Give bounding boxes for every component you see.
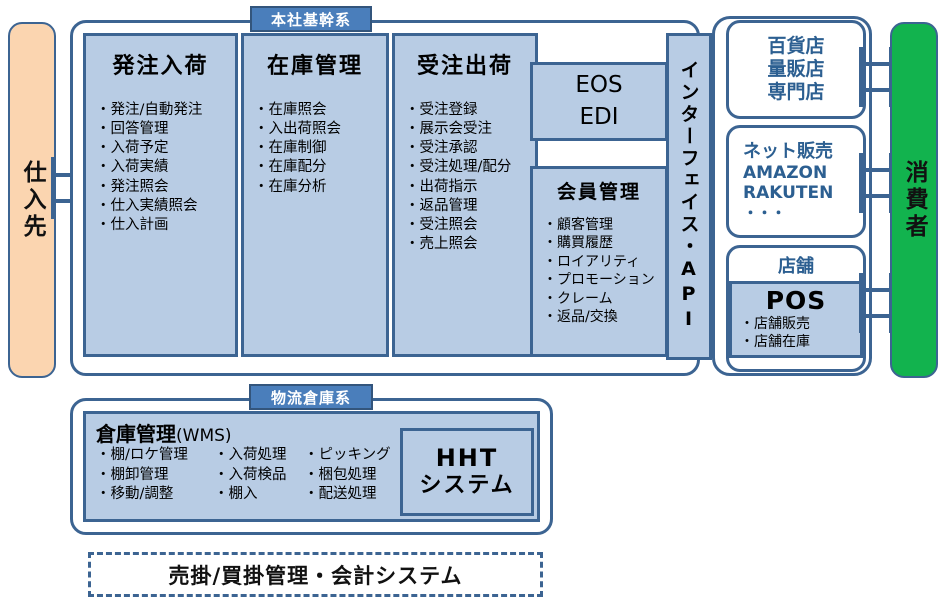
list-item: ・店舗販売 <box>740 315 852 333</box>
list-item: ・棚入 <box>214 485 287 505</box>
list-item: ・在庫照会 <box>254 101 376 120</box>
pos-box[interactable]: POS ・店舗販売 ・店舗在庫 <box>729 281 863 358</box>
module-kaiin-kanri[interactable]: 会員管理 ・顧客管理 ・購買履歴 ・ロイアリティ ・プロモーション ・クレーム … <box>530 166 668 357</box>
edi-label: EDI <box>579 102 618 133</box>
list-item: ・展示会受注 <box>405 120 525 139</box>
list-item: ・ピッキング <box>304 446 391 466</box>
list-item: ・梱包処理 <box>304 466 391 486</box>
list-item: ・返品/交換 <box>543 308 655 326</box>
group-tab-hq-label: 本社基幹系 <box>271 9 351 30</box>
list-item: ・棚/ロケ管理 <box>96 446 188 466</box>
module-juchu-shukka-title: 受注出荷 <box>405 48 525 80</box>
list-item: ・発注/自動発注 <box>96 101 225 120</box>
actor-supplier-label: 仕入先 <box>20 160 44 241</box>
list-item: ・仕入実績照会 <box>96 197 225 216</box>
channel-store-caption: 店舗 <box>778 252 814 278</box>
channel-store-pos[interactable]: 店舗 POS ・店舗販売 ・店舗在庫 <box>726 245 866 372</box>
wms-column-2: ・入荷処理 ・入荷検品 ・棚入 <box>214 446 287 505</box>
diagram-canvas: 仕入先 本社基幹系 発注入荷 ・発注/自動発注 ・回答管理 ・入荷予定 ・入荷実… <box>0 0 950 608</box>
hht-subtitle: システム <box>419 473 514 499</box>
wms-column-1: ・棚/ロケ管理 ・棚卸管理 ・移動/調整 <box>96 446 188 505</box>
hht-title: HHT <box>436 444 499 473</box>
wms-title-row: 倉庫管理(WMS) <box>96 418 232 447</box>
list-item: ・移動/調整 <box>96 485 188 505</box>
actor-consumer-label: 消費者 <box>902 160 926 241</box>
channel-net-line: ネット販売 <box>743 141 833 163</box>
eos-label: EOS <box>575 70 622 101</box>
list-item: ・店舗在庫 <box>740 333 852 351</box>
actor-consumer: 消費者 <box>890 22 938 378</box>
wms-title: 倉庫管理 <box>96 422 176 446</box>
module-zaiko-kanri-title: 在庫管理 <box>254 48 376 80</box>
channel-net-line: RAKUTEN <box>743 183 833 204</box>
list-item: ・出荷指示 <box>405 178 525 197</box>
list-item: ・返品管理 <box>405 197 525 216</box>
module-wms[interactable]: 倉庫管理(WMS) ・棚/ロケ管理 ・棚卸管理 ・移動/調整 ・入荷処理 ・入荷… <box>83 411 540 522</box>
list-item: ・受注承認 <box>405 139 525 158</box>
list-item: ・受注処理/配分 <box>405 158 525 177</box>
list-item: ・棚卸管理 <box>96 466 188 486</box>
list-item: ・クレーム <box>543 290 655 308</box>
channel-net-sales[interactable]: ネット販売 AMAZON RAKUTEN ・・・ <box>726 125 866 238</box>
hht-system-box[interactable]: HHT システム <box>400 428 534 516</box>
module-kaiin-kanri-list: ・顧客管理 ・購買履歴 ・ロイアリティ ・プロモーション ・クレーム ・返品/交… <box>543 216 655 327</box>
module-juchu-shukka[interactable]: 受注出荷 ・受注登録 ・展示会受注 ・受注承認 ・受注処理/配分 ・出荷指示 ・… <box>392 33 538 357</box>
module-zaiko-kanri-list: ・在庫照会 ・入出荷照会 ・在庫制御 ・在庫配分 ・在庫分析 <box>254 101 376 197</box>
module-eos-edi[interactable]: EOS EDI <box>530 62 668 141</box>
list-item: ・受注照会 <box>405 216 525 235</box>
list-item: ・購買履歴 <box>543 234 655 252</box>
actor-supplier: 仕入先 <box>8 22 56 378</box>
list-item: ・売上照会 <box>405 235 525 254</box>
list-item: ・配送処理 <box>304 485 391 505</box>
list-item: ・入出荷照会 <box>254 120 376 139</box>
channel-retail-stores[interactable]: 百貨店 量販店 専門店 <box>726 20 866 119</box>
accounting-system-label: 売掛/買掛管理・会計システム <box>168 560 462 590</box>
wms-column-3: ・ピッキング ・梱包処理 ・配送処理 <box>304 446 391 505</box>
module-kaiin-kanri-title: 会員管理 <box>543 177 655 204</box>
pos-title: POS <box>766 286 827 315</box>
channel-retail-line: 百貨店 <box>767 35 824 58</box>
list-item: ・顧客管理 <box>543 216 655 234</box>
list-item: ・在庫分析 <box>254 178 376 197</box>
module-zaiko-kanri[interactable]: 在庫管理 ・在庫照会 ・入出荷照会 ・在庫制御 ・在庫配分 ・在庫分析 <box>241 33 389 357</box>
list-item: ・仕入計画 <box>96 216 225 235</box>
list-item: ・在庫配分 <box>254 158 376 177</box>
group-tab-hq: 本社基幹系 <box>250 6 372 32</box>
channel-net-line: ・・・ <box>743 204 785 222</box>
pos-list: ・店舗販売 ・店舗在庫 <box>740 315 852 351</box>
module-juchu-shukka-list: ・受注登録 ・展示会受注 ・受注承認 ・受注処理/配分 ・出荷指示 ・返品管理 … <box>405 101 525 254</box>
list-item: ・受注登録 <box>405 101 525 120</box>
accounting-system-box[interactable]: 売掛/買掛管理・会計システム <box>88 552 543 597</box>
list-item: ・入荷実績 <box>96 158 225 177</box>
list-item: ・回答管理 <box>96 120 225 139</box>
interface-api-label: インターフェイス・API <box>676 60 703 333</box>
group-tab-warehouse: 物流倉庫系 <box>249 384 373 410</box>
list-item: ・プロモーション <box>543 271 655 289</box>
list-item: ・発注照会 <box>96 178 225 197</box>
module-hacchu-nyuka[interactable]: 発注入荷 ・発注/自動発注 ・回答管理 ・入荷予定 ・入荷実績 ・発注照会 ・仕… <box>83 33 238 357</box>
interface-api-bar[interactable]: インターフェイス・API <box>666 33 712 360</box>
list-item: ・ロイアリティ <box>543 253 655 271</box>
list-item: ・入荷処理 <box>214 446 287 466</box>
list-item: ・在庫制御 <box>254 139 376 158</box>
list-item: ・入荷検品 <box>214 466 287 486</box>
module-hacchu-nyuka-title: 発注入荷 <box>96 48 225 80</box>
channel-net-line: AMAZON <box>743 163 827 184</box>
module-hacchu-nyuka-list: ・発注/自動発注 ・回答管理 ・入荷予定 ・入荷実績 ・発注照会 ・仕入実績照会… <box>96 101 225 235</box>
group-tab-warehouse-label: 物流倉庫系 <box>271 387 351 408</box>
list-item: ・入荷予定 <box>96 139 225 158</box>
channel-retail-line: 専門店 <box>767 81 824 104</box>
channel-retail-line: 量販店 <box>767 58 824 81</box>
wms-title-sub: (WMS) <box>176 426 232 446</box>
